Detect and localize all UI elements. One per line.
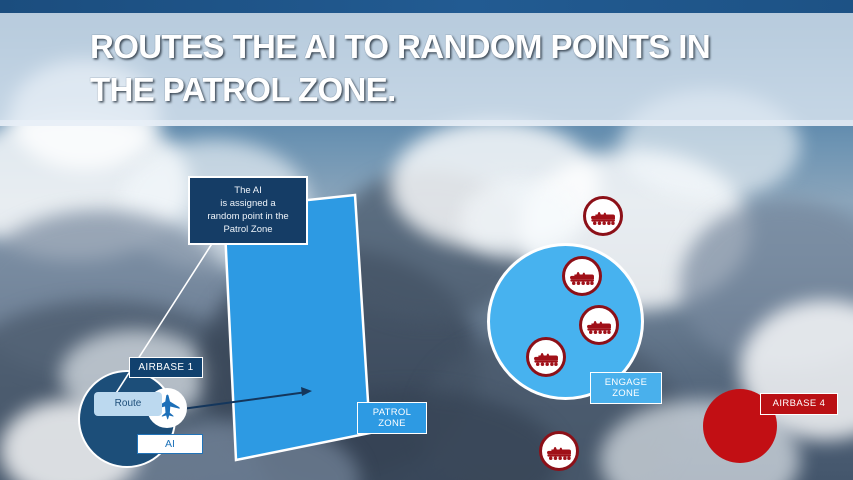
route-label: Route <box>94 392 162 416</box>
armored-vehicle-icon <box>590 207 617 226</box>
airbase-4-label: AIRBASE 4 <box>760 393 838 415</box>
enemy-unit-marker[interactable] <box>539 431 579 471</box>
enemy-unit-marker[interactable] <box>562 256 602 296</box>
patrol-zone-label: PATROL ZONE <box>357 402 427 434</box>
engage-zone-label: ENGAGE ZONE <box>590 372 662 404</box>
route-arrow-head <box>301 387 312 396</box>
ai-label: AI <box>137 434 203 454</box>
enemy-unit-marker[interactable] <box>583 196 623 236</box>
armored-vehicle-icon <box>586 316 613 335</box>
armored-vehicle-icon <box>533 348 560 367</box>
armored-vehicle-icon <box>569 267 596 286</box>
enemy-unit-marker[interactable] <box>579 305 619 345</box>
slide-canvas: ROUTES THE AI TO RANDOM POINTS IN THE PA… <box>0 0 853 480</box>
route-arrow-line <box>182 392 307 409</box>
armored-vehicle-icon <box>546 442 573 461</box>
airbase-1-label: AIRBASE 1 <box>129 357 203 378</box>
enemy-unit-marker[interactable] <box>526 337 566 377</box>
callout-box: The AI is assigned a random point in the… <box>188 176 308 245</box>
